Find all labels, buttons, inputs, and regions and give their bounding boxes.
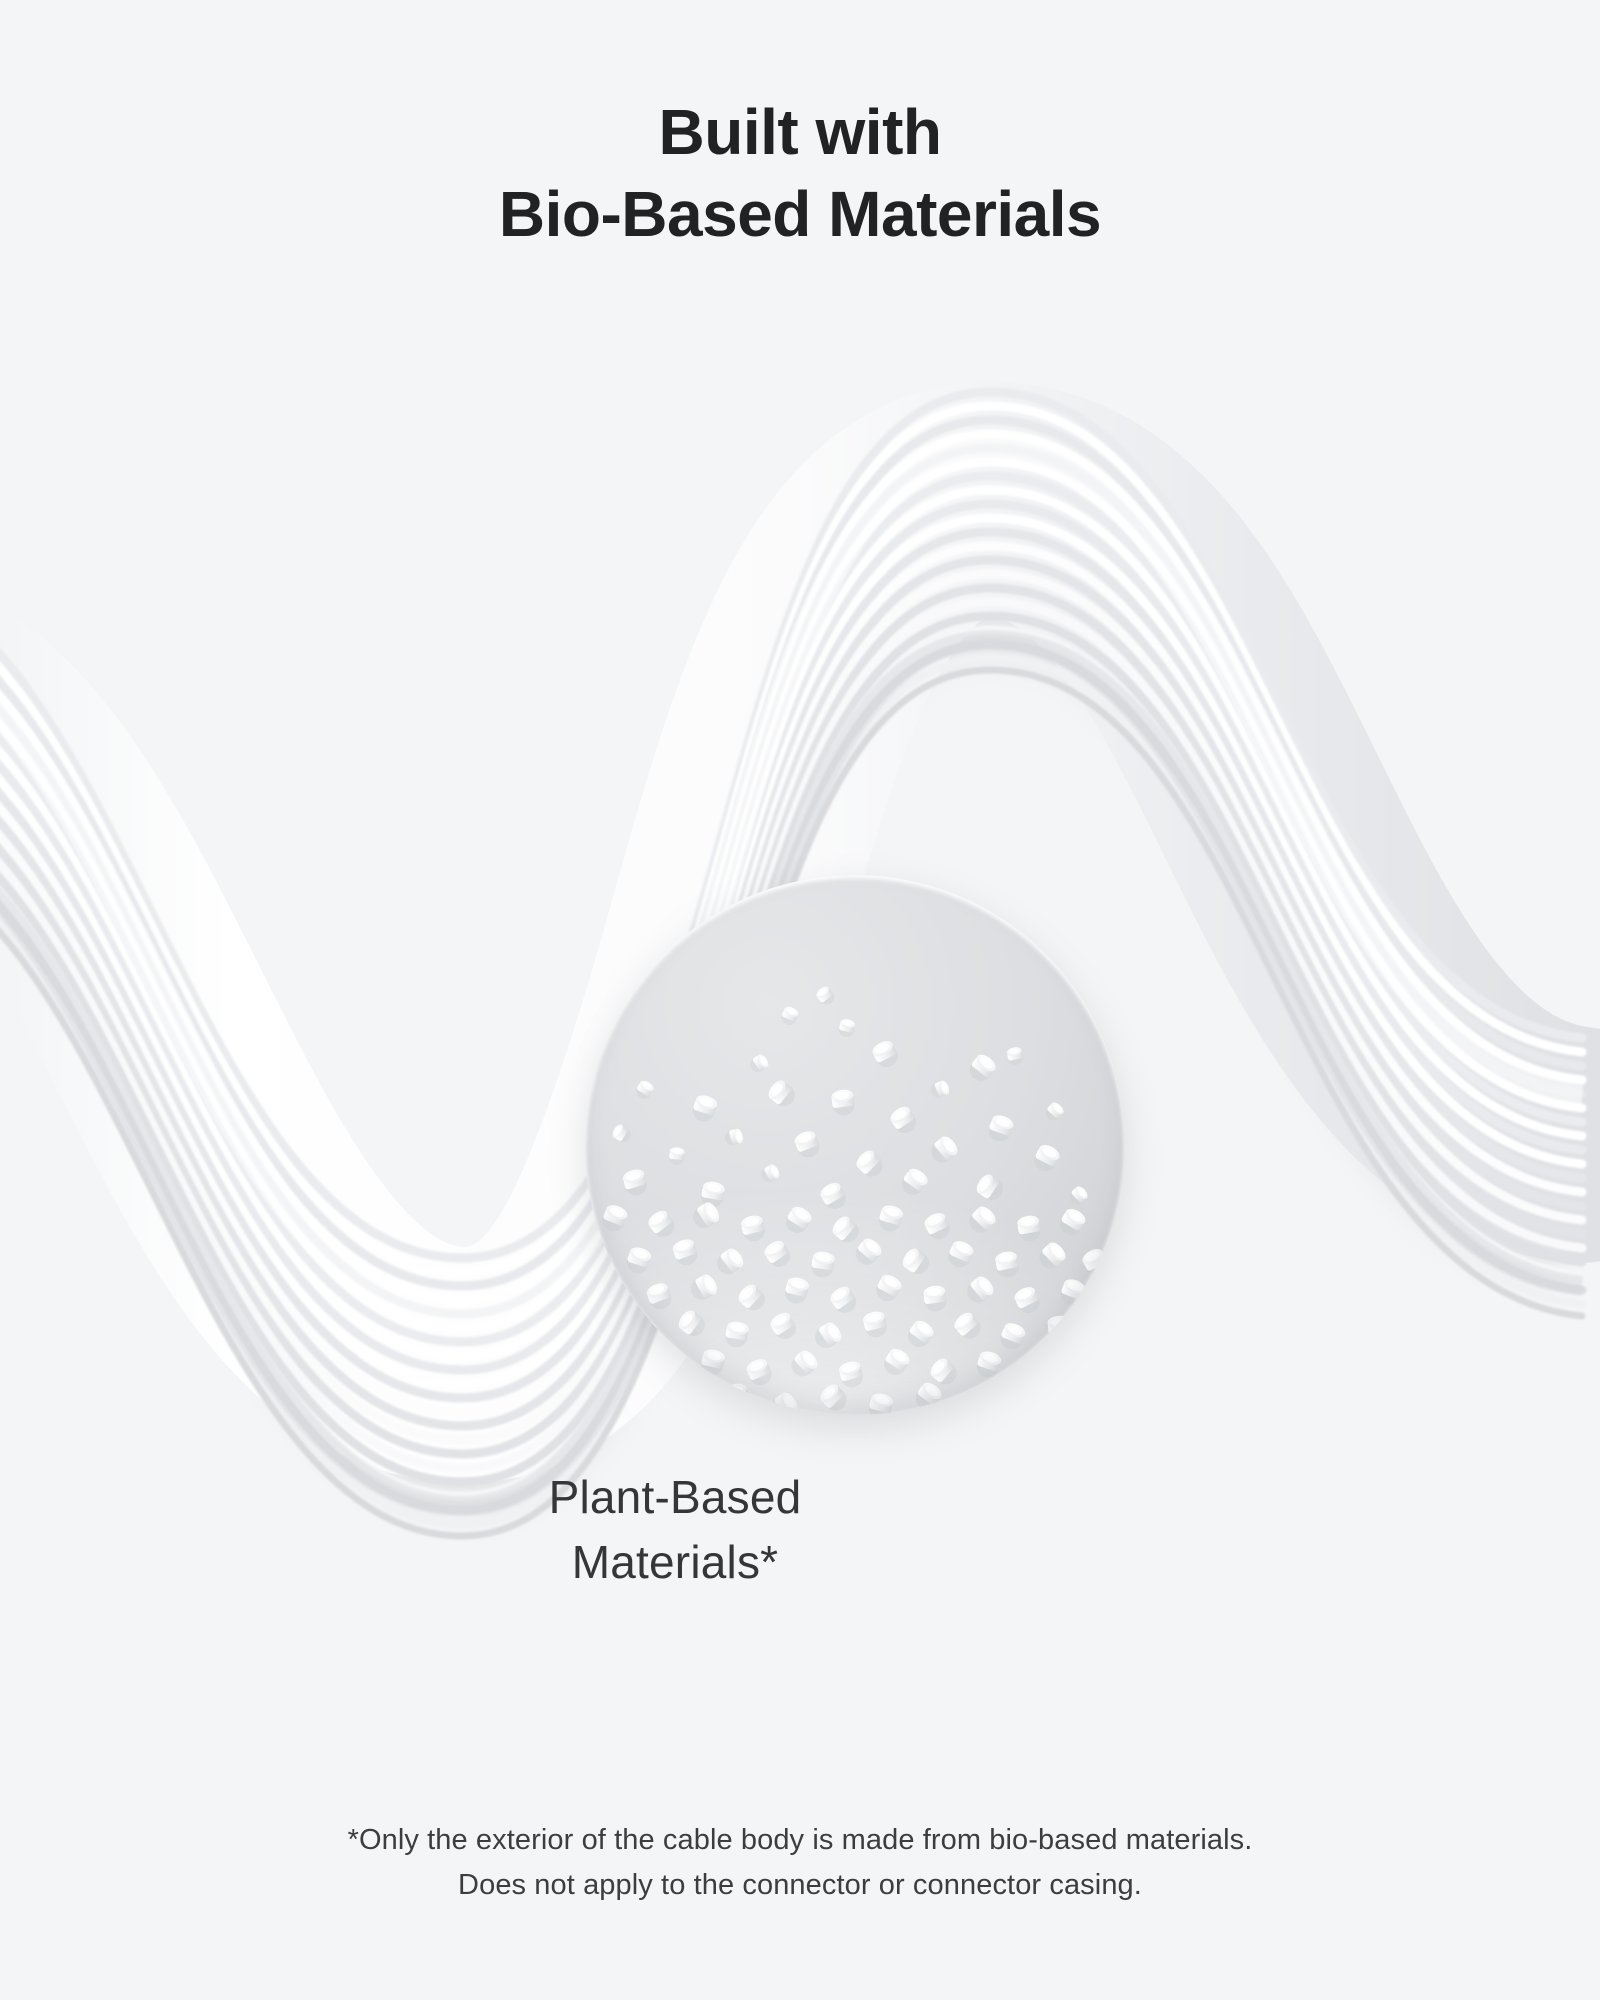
footnote: *Only the exterior of the cable body is … — [0, 1818, 1600, 1908]
caption-line-2: Materials* — [360, 1530, 990, 1595]
headline-line-2: Bio-Based Materials — [0, 174, 1600, 256]
footnote-line-1: *Only the exterior of the cable body is … — [0, 1818, 1600, 1863]
page-title: Built with Bio-Based Materials — [0, 92, 1600, 256]
headline-line-1: Built with — [0, 92, 1600, 174]
pellet-cluster — [585, 875, 1125, 1415]
pellet-svg — [585, 875, 1125, 1415]
plant-based-pellets-circle — [585, 875, 1125, 1415]
caption-line-1: Plant-Based — [360, 1465, 990, 1530]
footnote-line-2: Does not apply to the connector or conne… — [0, 1863, 1600, 1908]
marketing-page: Built with Bio-Based Materials — [0, 0, 1600, 2000]
inset-caption: Plant-Based Materials* — [360, 1465, 990, 1596]
